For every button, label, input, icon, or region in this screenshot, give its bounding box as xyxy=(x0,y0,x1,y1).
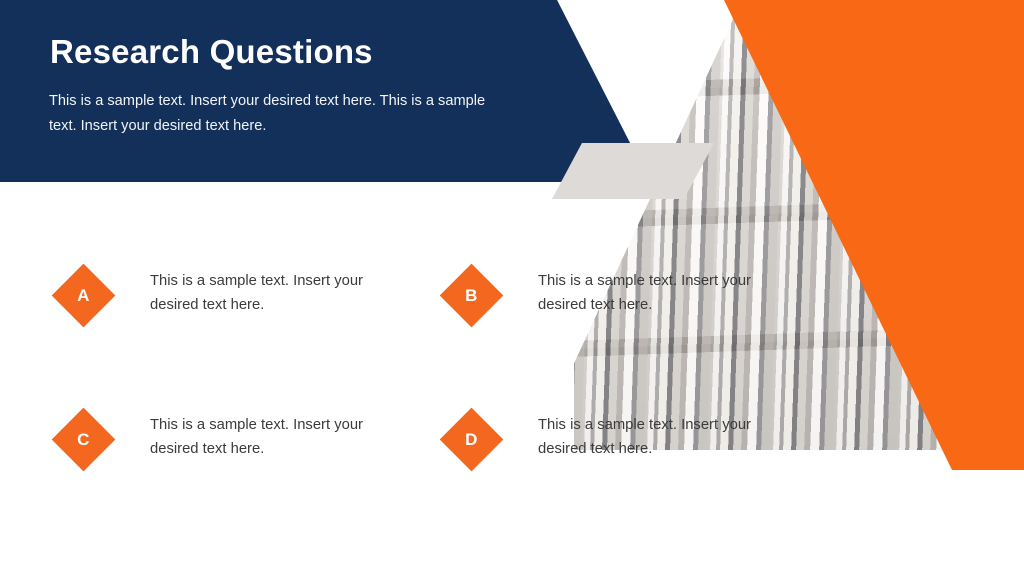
item-text: This is a sample text. Insert your desir… xyxy=(538,402,753,461)
diamond-marker-a[interactable]: A xyxy=(52,264,116,328)
list-item[interactable]: D This is a sample text. Insert your des… xyxy=(440,402,753,462)
diamond-marker-b[interactable]: B xyxy=(440,264,504,328)
right-decoration-group xyxy=(574,0,1024,470)
slide-canvas: Research Questions This is a sample text… xyxy=(0,0,1024,576)
list-item[interactable]: B This is a sample text. Insert your des… xyxy=(440,258,753,318)
diamond-marker-d[interactable]: D xyxy=(440,408,504,472)
item-text: This is a sample text. Insert your desir… xyxy=(150,258,365,317)
item-text: This is a sample text. Insert your desir… xyxy=(150,402,365,461)
list-item[interactable]: C This is a sample text. Insert your des… xyxy=(52,402,365,462)
page-subtitle: This is a sample text. Insert your desir… xyxy=(49,89,499,139)
item-text: This is a sample text. Insert your desir… xyxy=(538,258,753,317)
diamond-letter: C xyxy=(61,417,106,462)
diamond-letter: A xyxy=(61,273,106,318)
list-item[interactable]: A This is a sample text. Insert your des… xyxy=(52,258,365,318)
diamond-marker-c[interactable]: C xyxy=(52,408,116,472)
page-title: Research Questions xyxy=(50,33,373,71)
diamond-letter: D xyxy=(449,417,494,462)
diamond-letter: B xyxy=(449,273,494,318)
